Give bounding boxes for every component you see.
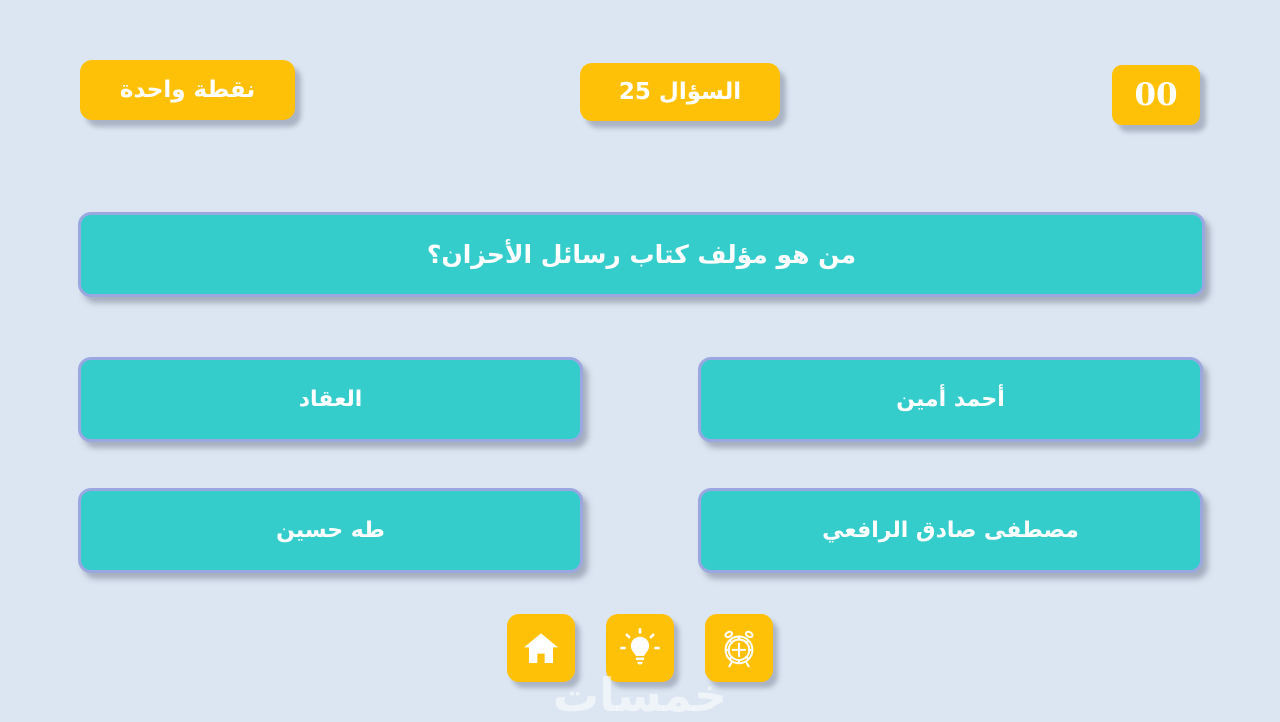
answer-option-3[interactable]: طه حسين <box>78 488 583 573</box>
timer-badge: 00 <box>1112 65 1200 125</box>
answer-option-2[interactable]: أحمد أمين <box>698 357 1203 442</box>
question-counter-badge: السؤال 25 <box>580 63 780 121</box>
question-text: من هو مؤلف كتاب رسائل الأحزان؟ <box>78 212 1205 297</box>
quiz-screen: نقطة واحدة السؤال 25 00 من هو مؤلف كتاب … <box>0 0 1280 720</box>
lightbulb-icon <box>619 627 661 669</box>
hint-button[interactable] <box>606 614 674 682</box>
timer-button[interactable] <box>705 614 773 682</box>
alarm-clock-icon <box>717 626 761 670</box>
answer-option-1[interactable]: العقاد <box>78 357 583 442</box>
home-icon <box>521 628 561 668</box>
home-button[interactable] <box>507 614 575 682</box>
points-badge: نقطة واحدة <box>80 60 295 120</box>
answer-option-4[interactable]: مصطفى صادق الرافعي <box>698 488 1203 573</box>
bottom-toolbar <box>0 614 1280 682</box>
